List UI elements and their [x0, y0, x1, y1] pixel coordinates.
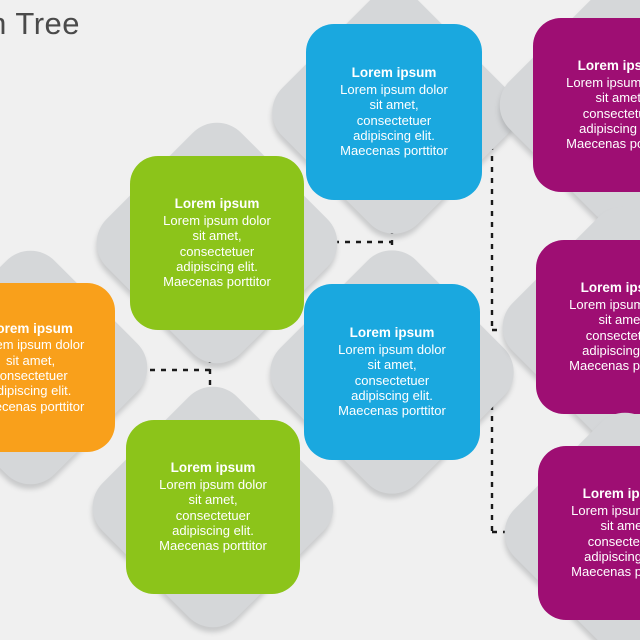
node-frame — [491, 399, 640, 640]
node-frame — [486, 0, 640, 239]
page-title: ion Tree — [0, 6, 80, 42]
node-end-magenta-middle[interactable]: Lorem ipsumLorem ipsum dolor sit amet, c… — [528, 232, 640, 422]
node-leaf-blue-upper[interactable]: Lorem ipsumLorem ipsum dolor sit amet, c… — [298, 16, 490, 208]
node-end-magenta-top[interactable]: Lorem ipsumLorem ipsum dolor sit amet, c… — [525, 10, 640, 200]
node-end-magenta-bottom[interactable]: Lorem ipsumLorem ipsum dolor sit amet, c… — [530, 438, 640, 628]
node-branch-green-lower[interactable]: Lorem ipsumLorem ipsum dolor sit amet, c… — [118, 412, 308, 602]
node-fill — [126, 420, 300, 594]
node-fill — [538, 446, 640, 620]
node-fill — [533, 18, 640, 192]
node-fill — [0, 283, 115, 452]
node-fill — [130, 156, 304, 330]
node-frame — [256, 236, 528, 508]
node-fill — [306, 24, 482, 200]
node-fill — [304, 284, 480, 460]
decision-tree-canvas: ion Tree Lorem ipsumLorem ipsum dolor si… — [0, 0, 640, 640]
node-leaf-blue-lower[interactable]: Lorem ipsumLorem ipsum dolor sit amet, c… — [296, 276, 488, 468]
node-root-orange[interactable]: Lorem ipsumLorem ipsum dolor sit amet, c… — [0, 275, 123, 460]
node-fill — [536, 240, 640, 414]
node-branch-green-upper[interactable]: Lorem ipsumLorem ipsum dolor sit amet, c… — [122, 148, 312, 338]
